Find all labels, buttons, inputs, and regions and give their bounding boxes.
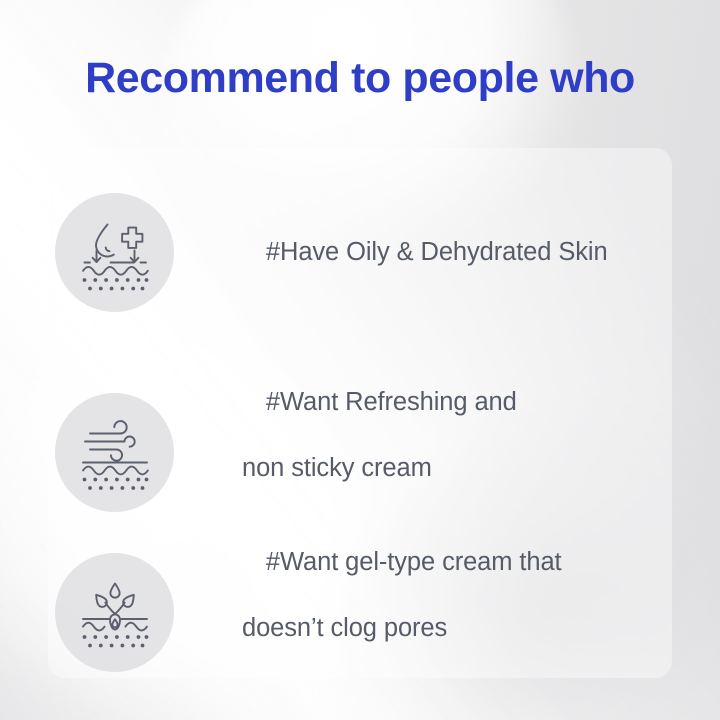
benefit-row-non-clogging: #Want gel-type cream that doesn’t clog p… [55, 513, 562, 712]
page-title: Recommend to people who [0, 54, 720, 103]
droplet-plus-into-skin-icon [55, 193, 174, 312]
benefit-line-2: doesn’t clog pores [224, 612, 562, 645]
benefit-text-oily-dehydrated: #Have Oily & Dehydrated Skin [224, 203, 608, 302]
pore-droplet-splash-icon [55, 553, 174, 672]
benefit-text-non-clogging: #Want gel-type cream that doesn’t clog p… [224, 513, 562, 712]
promo-poster: Recommend to people who [0, 0, 720, 720]
benefit-line-2: non sticky cream [224, 452, 517, 485]
wind-over-skin-icon [55, 393, 174, 512]
benefit-line-1: #Want gel-type cream that [266, 548, 562, 576]
benefit-row-oily-dehydrated: #Have Oily & Dehydrated Skin [55, 193, 608, 312]
benefit-line-1: #Have Oily & Dehydrated Skin [266, 238, 608, 266]
benefit-line-1: #Want Refreshing and [266, 388, 517, 416]
